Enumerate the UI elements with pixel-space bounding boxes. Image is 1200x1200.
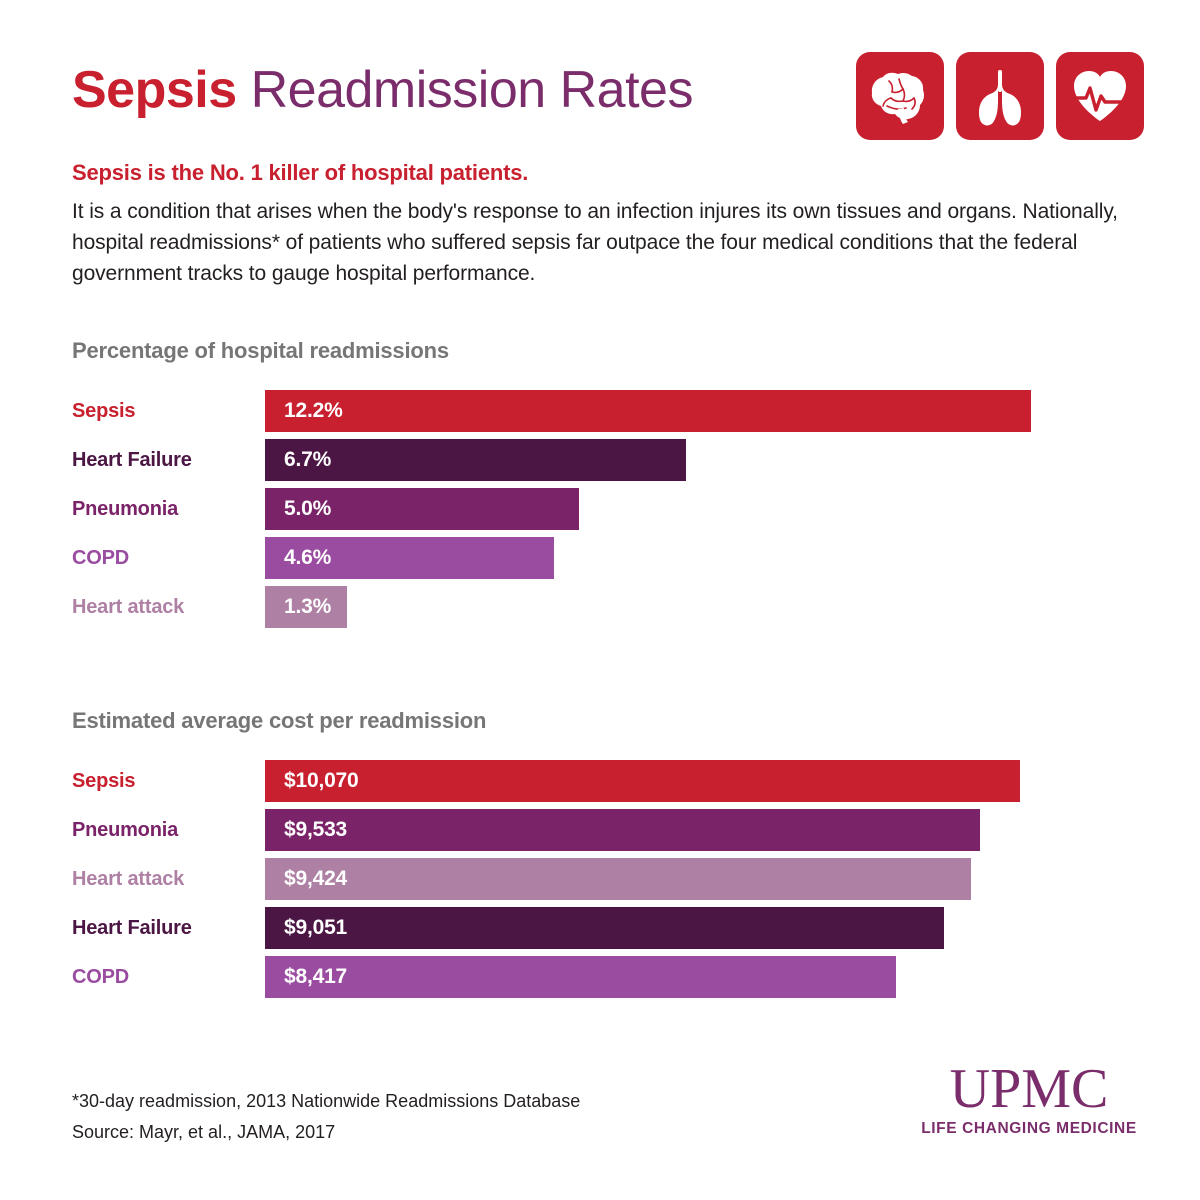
- page-title-light: Readmission Rates: [237, 61, 693, 119]
- bar-label: COPD: [72, 956, 265, 998]
- bar-row: Heart Failure $9,051: [72, 907, 1144, 949]
- bar-label: Sepsis: [72, 760, 265, 802]
- bar-value: 4.6%: [284, 546, 331, 570]
- bar-fill: 1.3%: [265, 586, 347, 628]
- lede-text: Sepsis is the No. 1 killer of hospital p…: [72, 160, 528, 186]
- bar-label: Pneumonia: [72, 488, 265, 530]
- bar-track: $9,424: [265, 858, 1144, 900]
- lungs-icon-tile: [956, 52, 1044, 140]
- bar-track: $9,533: [265, 809, 1144, 851]
- bar-label: Pneumonia: [72, 809, 265, 851]
- upmc-logo-tagline: LIFE CHANGING MEDICINE: [914, 1120, 1144, 1138]
- bar-fill: $9,424: [265, 858, 971, 900]
- bar-row: Sepsis 12.2%: [72, 390, 1144, 432]
- bar-fill: 4.6%: [265, 537, 554, 579]
- bar-value: $10,070: [284, 769, 359, 793]
- chart-section-cost: Estimated average cost per readmission S…: [72, 708, 1144, 1005]
- bar-row: Sepsis $10,070: [72, 760, 1144, 802]
- bar-fill: 12.2%: [265, 390, 1031, 432]
- bar-fill: 6.7%: [265, 439, 686, 481]
- bar-row: Heart attack $9,424: [72, 858, 1144, 900]
- bar-label: Sepsis: [72, 390, 265, 432]
- bar-value: 1.3%: [284, 595, 331, 619]
- bar-track: $9,051: [265, 907, 1144, 949]
- bar-track: 1.3%: [265, 586, 1144, 628]
- bar-track: 12.2%: [265, 390, 1144, 432]
- bar-label: Heart attack: [72, 858, 265, 900]
- bar-value: 6.7%: [284, 448, 331, 472]
- bar-fill: $9,051: [265, 907, 944, 949]
- header-icon-row: [856, 52, 1144, 140]
- bar-label: Heart Failure: [72, 907, 265, 949]
- bar-value: $9,533: [284, 818, 347, 842]
- infographic-page: Sepsis Readmission Rates: [0, 0, 1200, 1200]
- bar-fill: $8,417: [265, 956, 896, 998]
- footnote-source: Source: Mayr, et al., JAMA, 2017: [72, 1117, 580, 1148]
- bar-fill: $9,533: [265, 809, 980, 851]
- bar-label: COPD: [72, 537, 265, 579]
- intro-paragraph: It is a condition that arises when the b…: [72, 196, 1150, 289]
- brain-icon: [869, 67, 931, 125]
- bar-value: $9,424: [284, 867, 347, 891]
- bar-label: Heart Failure: [72, 439, 265, 481]
- bar-track: $8,417: [265, 956, 1144, 998]
- bar-value: $8,417: [284, 965, 347, 989]
- bar-row: COPD $8,417: [72, 956, 1144, 998]
- bar-row: Heart Failure 6.7%: [72, 439, 1144, 481]
- section-title-cost: Estimated average cost per readmission: [72, 708, 1144, 734]
- heart-pulse-icon: [1069, 67, 1131, 125]
- bar-row: COPD 4.6%: [72, 537, 1144, 579]
- upmc-logo: UPMC LIFE CHANGING MEDICINE: [914, 1060, 1144, 1138]
- page-title: Sepsis Readmission Rates: [72, 60, 693, 120]
- heart-pulse-icon-tile: [1056, 52, 1144, 140]
- footnotes: *30-day readmission, 2013 Nationwide Rea…: [72, 1086, 580, 1148]
- bar-row: Heart attack 1.3%: [72, 586, 1144, 628]
- brain-icon-tile: [856, 52, 944, 140]
- bar-track: 6.7%: [265, 439, 1144, 481]
- bar-value: $9,051: [284, 916, 347, 940]
- section-title-percentage: Percentage of hospital readmissions: [72, 338, 1144, 364]
- bar-fill: 5.0%: [265, 488, 579, 530]
- bar-row: Pneumonia 5.0%: [72, 488, 1144, 530]
- bar-track: 5.0%: [265, 488, 1144, 530]
- bar-track: $10,070: [265, 760, 1144, 802]
- bar-fill: $10,070: [265, 760, 1020, 802]
- bar-value: 12.2%: [284, 399, 343, 423]
- bar-row: Pneumonia $9,533: [72, 809, 1144, 851]
- upmc-logo-wordmark: UPMC: [914, 1060, 1144, 1118]
- chart-section-percentage: Percentage of hospital readmissions Seps…: [72, 338, 1144, 635]
- bar-label: Heart attack: [72, 586, 265, 628]
- bar-value: 5.0%: [284, 497, 331, 521]
- bar-track: 4.6%: [265, 537, 1144, 579]
- header: Sepsis Readmission Rates: [72, 52, 1144, 162]
- footnote-readmission: *30-day readmission, 2013 Nationwide Rea…: [72, 1086, 580, 1117]
- page-title-strong: Sepsis: [72, 61, 237, 119]
- lungs-icon: [969, 66, 1031, 126]
